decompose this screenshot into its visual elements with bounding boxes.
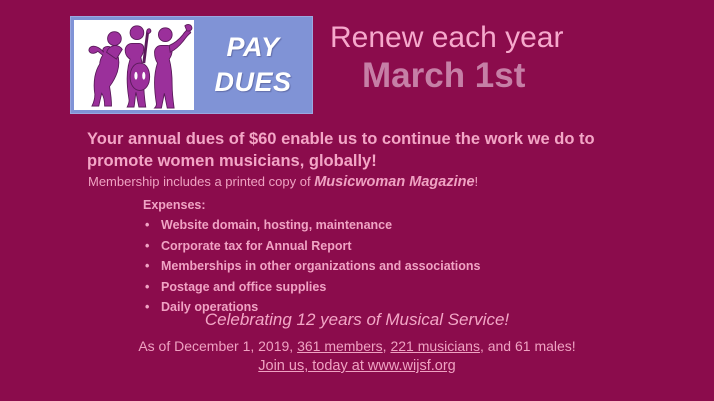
stats-suffix: , and 61 males!: [480, 338, 576, 354]
headline: Renew each year March 1st: [330, 22, 700, 96]
list-item-label: Corporate tax for Annual Report: [161, 239, 352, 253]
three-women-musicians-silhouette-icon: [74, 20, 194, 110]
stats-prefix: As of December 1, 2019,: [138, 338, 297, 354]
bullet-icon: •: [145, 215, 149, 236]
headline-renew-line: Renew each year: [330, 22, 700, 54]
list-item: • Postage and office supplies: [143, 277, 481, 298]
dues-lead-paragraph: Your annual dues of $60 enable us to con…: [87, 128, 627, 172]
list-item: • Memberships in other organizations and…: [143, 256, 481, 277]
pay-dues-logo: PAY DUES: [70, 16, 313, 114]
list-item-label: Website domain, hosting, maintenance: [161, 218, 392, 232]
bullet-icon: •: [145, 236, 149, 257]
list-item: • Website domain, hosting, maintenance: [143, 215, 481, 236]
list-item-label: Postage and office supplies: [161, 280, 326, 294]
list-item-label: Memberships in other organizations and a…: [161, 259, 481, 273]
join-us-link[interactable]: Join us, today at www.wijsf.org: [258, 358, 455, 374]
expenses-title: Expenses:: [143, 198, 481, 212]
membership-note-suffix: !: [475, 174, 479, 189]
logo-line-2: DUES: [214, 65, 291, 100]
expenses-block: Expenses: • Website domain, hosting, mai…: [143, 198, 481, 318]
magazine-title: Musicwoman Magazine: [314, 174, 474, 190]
list-item: • Corporate tax for Annual Report: [143, 236, 481, 257]
slide-canvas: PAY DUES Renew each year March 1st Your …: [0, 0, 714, 401]
headline-date-line: March 1st: [330, 56, 700, 95]
membership-stats-line: As of December 1, 2019, 361 members, 221…: [0, 338, 714, 354]
membership-note-prefix: Membership includes a printed copy of: [88, 174, 314, 189]
expenses-list: • Website domain, hosting, maintenance •…: [143, 215, 481, 318]
logo-line-1: PAY: [226, 30, 279, 65]
stats-musicians-count: 221 musicians: [390, 338, 480, 354]
celebrating-line: Celebrating 12 years of Musical Service!: [0, 310, 714, 330]
stats-members-count: 361 members: [297, 338, 383, 354]
pay-dues-label: PAY DUES: [194, 17, 312, 113]
membership-magazine-note: Membership includes a printed copy of Mu…: [88, 174, 478, 190]
bullet-icon: •: [145, 277, 149, 298]
join-us-line[interactable]: Join us, today at www.wijsf.org: [0, 358, 714, 374]
bullet-icon: •: [145, 256, 149, 277]
